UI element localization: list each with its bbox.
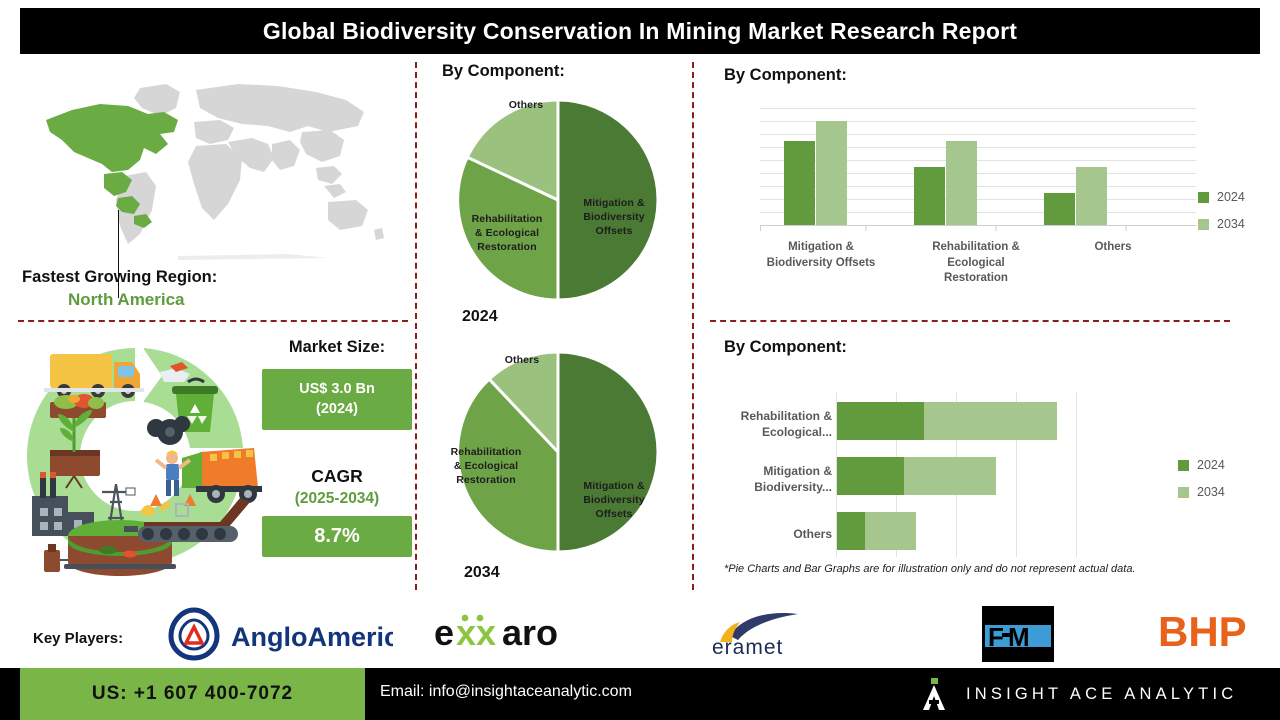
footer-bar: US: +1 607 400-7072 Email: info@insighta… xyxy=(0,668,1280,720)
pie-2034-label-rehabilitation: Rehabilitation & Ecological Restoration xyxy=(434,446,538,488)
horizontal-bar-category-mitigation: Mitigation & Biodiversity... xyxy=(706,463,832,495)
fortescue-fmg-logo-icon: F M xyxy=(982,606,1054,662)
key-players-label: Key Players: xyxy=(33,630,123,647)
horizontal-bar-category-others: Others xyxy=(706,526,832,542)
svg-text:aro: aro xyxy=(502,612,558,653)
market-size-year: (2024) xyxy=(268,400,406,420)
pie-panel-2024: By Component: Others Mitigation & Biodiv… xyxy=(424,62,694,320)
brand-block: INSIGHT ACE ANALYTIC xyxy=(918,678,1237,710)
footer-email-text[interactable]: Email: info@insightaceanalytic.com xyxy=(380,683,632,701)
cagr-value: 8.7% xyxy=(314,525,360,547)
pie-2024-year: 2024 xyxy=(462,308,498,326)
cagr-label: CAGR xyxy=(262,466,412,487)
legend-swatch-2034 xyxy=(1198,219,1209,230)
pie-2034-label-mitigation: Mitigation & Biodiversity Offsets xyxy=(566,480,662,522)
page-title: Global Biodiversity Conservation In Mini… xyxy=(263,18,1017,45)
market-size-value-box: US$ 3.0 Bn (2024) xyxy=(262,369,412,430)
svg-text:e: e xyxy=(434,612,454,653)
vertical-bar-category-others: Others xyxy=(1058,240,1168,256)
fastest-growing-region-value: North America xyxy=(68,290,185,310)
key-players-row: Key Players: AngloAmerican e xx aro eram… xyxy=(0,596,1280,668)
market-metrics: Market Size: US$ 3.0 Bn (2024) CAGR (202… xyxy=(262,338,412,557)
header-bar: Global Biodiversity Conservation In Mini… xyxy=(20,8,1260,54)
legend-swatch-2024 xyxy=(1178,460,1189,471)
divider-horizontal-left xyxy=(18,320,408,322)
pie-2034-label-others: Others xyxy=(482,354,562,368)
bar-2034-rehabilitation xyxy=(946,141,977,225)
vertical-bar-legend: 2024 2034 xyxy=(1198,190,1245,244)
bar-2024-mitigation xyxy=(784,141,815,225)
pie-2024-label-mitigation: Mitigation & Biodiversity Offsets xyxy=(566,197,662,239)
horizontal-bar-chart xyxy=(836,392,1110,557)
hbar-2034-mitigation xyxy=(904,457,996,495)
eramet-logo-icon: eramet xyxy=(706,608,826,658)
horizontal-bar-legend: 2024 2034 xyxy=(1178,458,1225,512)
market-size-label: Market Size: xyxy=(262,338,412,357)
bar-2024-rehabilitation xyxy=(914,167,945,225)
vertical-bar-panel: By Component: xyxy=(700,62,1280,310)
legend-label-2034: 2034 xyxy=(1197,485,1225,499)
footer-phone-block[interactable]: US: +1 607 400-7072 xyxy=(20,668,365,720)
chart-disclaimer: *Pie Charts and Bar Graphs are for illus… xyxy=(724,563,1136,575)
cagr-period: (2025-2034) xyxy=(262,490,412,508)
svg-text:F: F xyxy=(988,622,1004,652)
pie-2024-label-others: Others xyxy=(486,99,566,113)
legend-label-2024: 2024 xyxy=(1217,190,1245,204)
svg-text:M: M xyxy=(1008,622,1030,652)
hbar-2024-mitigation xyxy=(837,457,904,495)
insight-ace-a-mark-icon xyxy=(918,678,950,710)
hbar-2034-rehabilitation xyxy=(924,402,1057,440)
angloamerican-logo-icon: AngloAmerican xyxy=(163,606,393,662)
fastest-growing-region-label: Fastest Growing Region: xyxy=(22,268,217,287)
bhp-logo-icon: BHP xyxy=(1158,608,1262,654)
footer-phone-text: US: +1 607 400-7072 xyxy=(92,683,293,705)
recycling-cycle-illustration-icon xyxy=(4,336,266,582)
market-size-value: US$ 3.0 Bn xyxy=(268,380,406,400)
legend-item-2034: 2034 xyxy=(1198,217,1245,231)
vertical-bar-chart xyxy=(760,108,1196,233)
pie-panel-2034: Others Mitigation & Biodiversity Offsets… xyxy=(424,334,694,590)
horizontal-bar-heading: By Component: xyxy=(724,338,847,357)
bar-2034-others xyxy=(1076,167,1107,225)
legend-item-2024: 2024 xyxy=(1178,458,1225,472)
legend-item-2024: 2024 xyxy=(1198,190,1245,204)
vertical-bar-heading: By Component: xyxy=(724,66,847,85)
hbar-2024-rehabilitation xyxy=(837,402,924,440)
legend-item-2034: 2034 xyxy=(1178,485,1225,499)
svg-text:BHP: BHP xyxy=(1158,608,1247,654)
pie-2024-label-rehabilitation: Rehabilitation & Ecological Restoration xyxy=(458,213,556,255)
svg-text:eramet: eramet xyxy=(712,636,783,658)
horizontal-bar-panel: By Component: xyxy=(700,334,1280,590)
svg-text:AngloAmerican: AngloAmerican xyxy=(231,622,393,652)
hbar-2034-others xyxy=(865,512,916,550)
cagr-value-box: 8.7% xyxy=(262,516,412,557)
market-metrics-panel: Market Size: US$ 3.0 Bn (2024) CAGR (202… xyxy=(0,332,415,590)
world-map-icon xyxy=(28,74,398,264)
bar-2024-others xyxy=(1044,193,1075,225)
legend-label-2034: 2034 xyxy=(1217,217,1245,231)
legend-label-2024: 2024 xyxy=(1197,458,1225,472)
exxaro-logo-icon: e xx aro xyxy=(434,612,574,654)
pie-2024-heading: By Component: xyxy=(442,62,565,81)
divider-vertical-left xyxy=(415,62,417,590)
bar-2034-mitigation xyxy=(816,121,847,225)
horizontal-bar-category-rehabilitation: Rehabilitation & Ecological... xyxy=(706,408,832,440)
legend-swatch-2024 xyxy=(1198,192,1209,203)
brand-name: INSIGHT ACE ANALYTIC xyxy=(966,685,1237,704)
pie-2034-year: 2034 xyxy=(464,564,500,582)
divider-horizontal-right xyxy=(710,320,1230,322)
vertical-bar-category-mitigation: Mitigation & Biodiversity Offsets xyxy=(756,240,886,271)
hbar-2024-others xyxy=(837,512,865,550)
vertical-bar-category-rehabilitation: Rehabilitation & Ecological Restoration xyxy=(912,240,1040,287)
legend-swatch-2034 xyxy=(1178,487,1189,498)
